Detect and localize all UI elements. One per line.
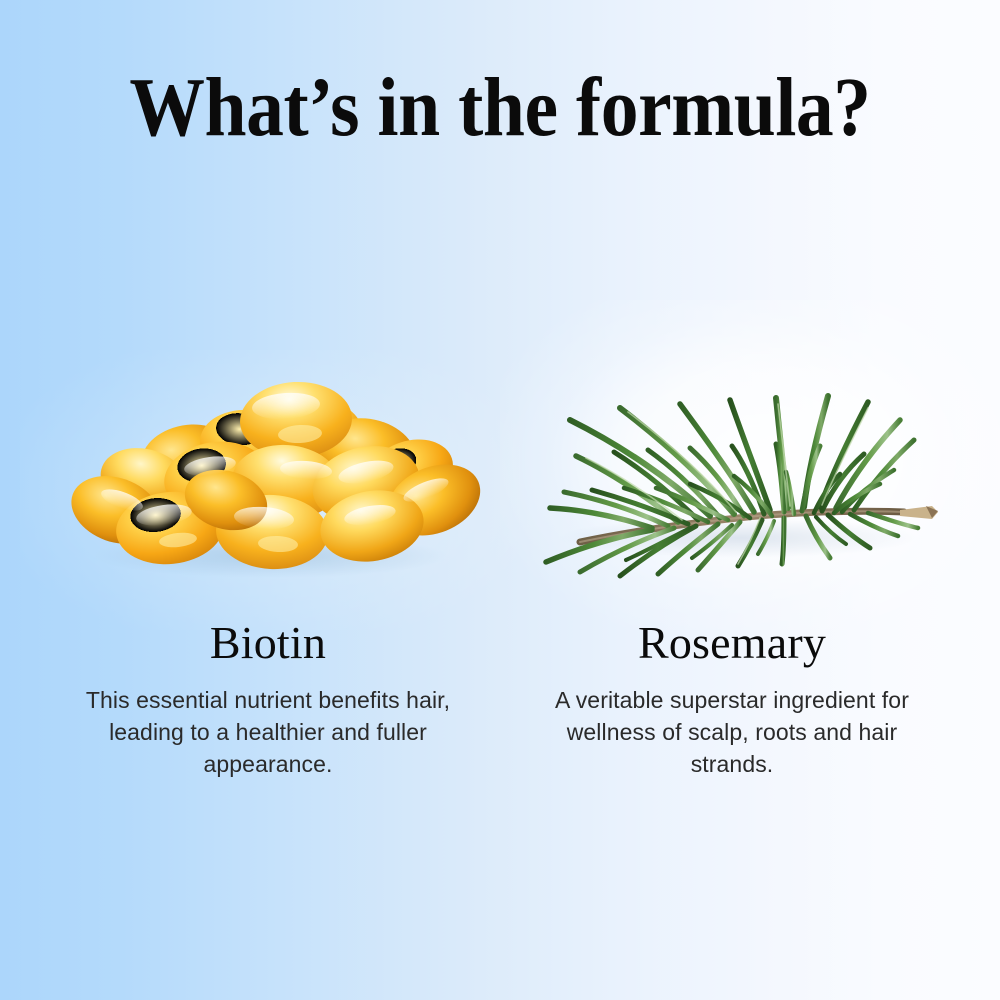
ingredient-description-biotin: This essential nutrient benefits hair, l… (38, 684, 498, 780)
softgel-capsules-pile-image (38, 360, 498, 590)
ingredient-description-rosemary: A veritable superstar ingredient for wel… (502, 684, 962, 780)
ingredient-name-biotin: Biotin (38, 618, 498, 668)
ingredient-card-biotin: Biotin This essential nutrient benefits … (38, 360, 498, 780)
rosemary-sprig-icon (502, 360, 962, 590)
ingredient-name-rosemary: Rosemary (502, 618, 962, 668)
rosemary-sprig-image (502, 360, 962, 590)
page-title: What’s in the formula? (50, 62, 950, 154)
formula-poster: What’s in the formula? (0, 0, 1000, 1000)
softgel-capsules-icon (38, 360, 498, 590)
ingredient-card-rosemary: Rosemary A veritable superstar ingredien… (502, 360, 962, 780)
